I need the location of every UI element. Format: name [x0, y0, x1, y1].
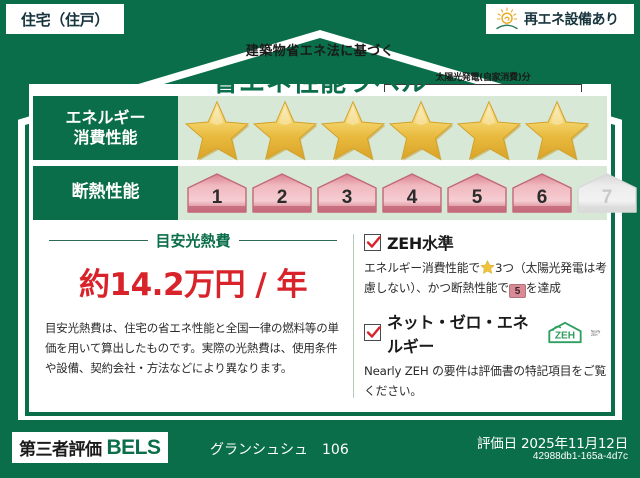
- label-lower-section: 目安光熱費 約14.2万円 / 年 目安光熱費は、住宅の省エネ性能と全国一律の燃…: [29, 230, 611, 402]
- insulation-level-number: 6: [537, 187, 548, 214]
- star-icon: [388, 99, 454, 161]
- label-content: エネルギー 消費性能 太陽光発電(自家消費)分 断熱性能 1234567: [29, 96, 611, 412]
- net-zero-energy-checkbox[interactable]: [364, 324, 381, 341]
- zeh-standard-checkbox[interactable]: [364, 234, 381, 251]
- criterion-net-zero-energy: ネット・ゼロ・エネルギー ZEH Nearly ZEH Nearly ZEH の…: [364, 309, 607, 402]
- bels-en-label: BELS: [107, 436, 161, 460]
- zeh-standard-title: ZEH水準: [387, 230, 453, 254]
- zeh-house-icon: ZEH: [545, 321, 585, 345]
- energy-performance-label-line2: 消費性能: [73, 128, 137, 148]
- criteria-panel: ZEH水準 エネルギー消費性能で3つ（太陽光発電は考慮しない）、かつ断熱性能で5…: [364, 230, 611, 402]
- criterion-net-zero-energy-head: ネット・ゼロ・エネルギー ZEH Nearly ZEH: [364, 309, 607, 357]
- energy-performance-label-line1: エネルギー: [65, 108, 145, 128]
- building-name: グランシュシュ 106: [210, 439, 349, 459]
- energy-cost-amount: 約14.2万円 / 年: [35, 259, 351, 304]
- zeh-nearly-sublabel: Nearly ZEH: [591, 327, 607, 339]
- insulation-level-number: 3: [342, 187, 353, 214]
- star-rating: [178, 99, 590, 161]
- label-main-title: 省エネ性能ラベル: [0, 62, 640, 99]
- evaluation-date: 評価日 2025年11月12日: [477, 432, 628, 452]
- energy-performance-label: 住宅（住戸） 再エネ設備あり 建築物省エネ法に基づく 省エネ性能ラベル: [0, 0, 640, 478]
- insulation-performance-row: 断熱性能 1234567: [33, 166, 607, 220]
- check-icon: [366, 325, 381, 340]
- zeh-standard-body: エネルギー消費性能で3つ（太陽光発電は考慮しない）、かつ断熱性能で5を達成: [364, 258, 607, 299]
- insulation-level-badge: 5: [509, 284, 526, 298]
- energy-cost-panel: 目安光熱費 約14.2万円 / 年 目安光熱費は、住宅の省エネ性能と全国一律の燃…: [29, 230, 351, 402]
- star-icon: [524, 99, 590, 161]
- energy-performance-value: 太陽光発電(自家消費)分: [178, 96, 607, 160]
- star-icon: [320, 99, 386, 161]
- label-footer: 第三者評価 BELS グランシュシュ 106 評価日 2025年11月12日 4…: [0, 420, 640, 478]
- label-title: 建築物省エネ法に基づく 省エネ性能ラベル: [0, 40, 640, 99]
- sun-icon: [494, 7, 520, 31]
- insulation-level-number: 2: [277, 187, 288, 214]
- dwelling-type-badge: 住宅（住戸）: [6, 4, 124, 34]
- renewable-energy-badge: 再エネ設備あり: [486, 4, 634, 34]
- criterion-zeh-standard-head: ZEH水準: [364, 230, 607, 254]
- insulation-level-number: 7: [602, 187, 613, 214]
- insulation-performance-value: 1234567: [178, 166, 638, 220]
- star-icon: [456, 99, 522, 161]
- renewable-energy-label: 再エネ設備あり: [524, 9, 619, 29]
- bels-jp-label: 第三者評価: [19, 435, 102, 460]
- star-icon: [480, 260, 495, 274]
- energy-performance-row: エネルギー 消費性能 太陽光発電(自家消費)分: [33, 96, 607, 160]
- insulation-level-number: 5: [472, 187, 483, 214]
- insulation-level-5: 5: [446, 172, 508, 214]
- criterion-zeh-standard: ZEH水準 エネルギー消費性能で3つ（太陽光発電は考慮しない）、かつ断熱性能で5…: [364, 230, 607, 299]
- insulation-level-6: 6: [511, 172, 573, 214]
- check-icon: [366, 235, 381, 250]
- insulation-level-number: 1: [212, 187, 223, 214]
- star-icon: [252, 99, 318, 161]
- net-zero-energy-title: ネット・ゼロ・エネルギー: [387, 309, 537, 357]
- insulation-performance-label: 断熱性能: [33, 166, 178, 220]
- insulation-level-number: 4: [407, 187, 418, 214]
- evaluation-id: 42988db1-165a-4d7c: [533, 451, 628, 462]
- column-divider: [353, 234, 354, 398]
- insulation-level-7: 7: [576, 172, 638, 214]
- net-zero-energy-body: Nearly ZEH の要件は評価書の特記項目をご覧ください。: [364, 361, 607, 402]
- bels-badge: 第三者評価 BELS: [12, 432, 168, 463]
- energy-cost-heading-text: 目安光熱費: [156, 230, 231, 251]
- insulation-level-4: 4: [381, 172, 443, 214]
- zeh-logo-text: ZEH: [555, 330, 575, 341]
- insulation-level-3: 3: [316, 172, 378, 214]
- star-icon: [184, 99, 250, 161]
- label-subtitle: 建築物省エネ法に基づく: [0, 40, 640, 59]
- insulation-level-scale: 1234567: [178, 172, 638, 214]
- insulation-level-2: 2: [251, 172, 313, 214]
- zeh-standard-body-post: を達成: [526, 281, 561, 295]
- dwelling-type-label: 住宅（住戸）: [21, 9, 109, 30]
- energy-cost-note: 目安光熱費は、住宅の省エネ性能と全国一律の燃料等の単価を用いて算出したものです。…: [35, 318, 351, 378]
- energy-performance-label: エネルギー 消費性能: [33, 96, 178, 160]
- insulation-performance-label-text: 断熱性能: [72, 182, 140, 203]
- insulation-level-1: 1: [186, 172, 248, 214]
- heading-rule-left: [49, 240, 148, 242]
- heading-rule-right: [239, 240, 338, 242]
- svg-text:ZEH: ZEH: [591, 333, 598, 337]
- energy-cost-heading: 目安光熱費: [35, 230, 351, 251]
- zeh-standard-body-pre: エネルギー消費性能で: [364, 261, 480, 275]
